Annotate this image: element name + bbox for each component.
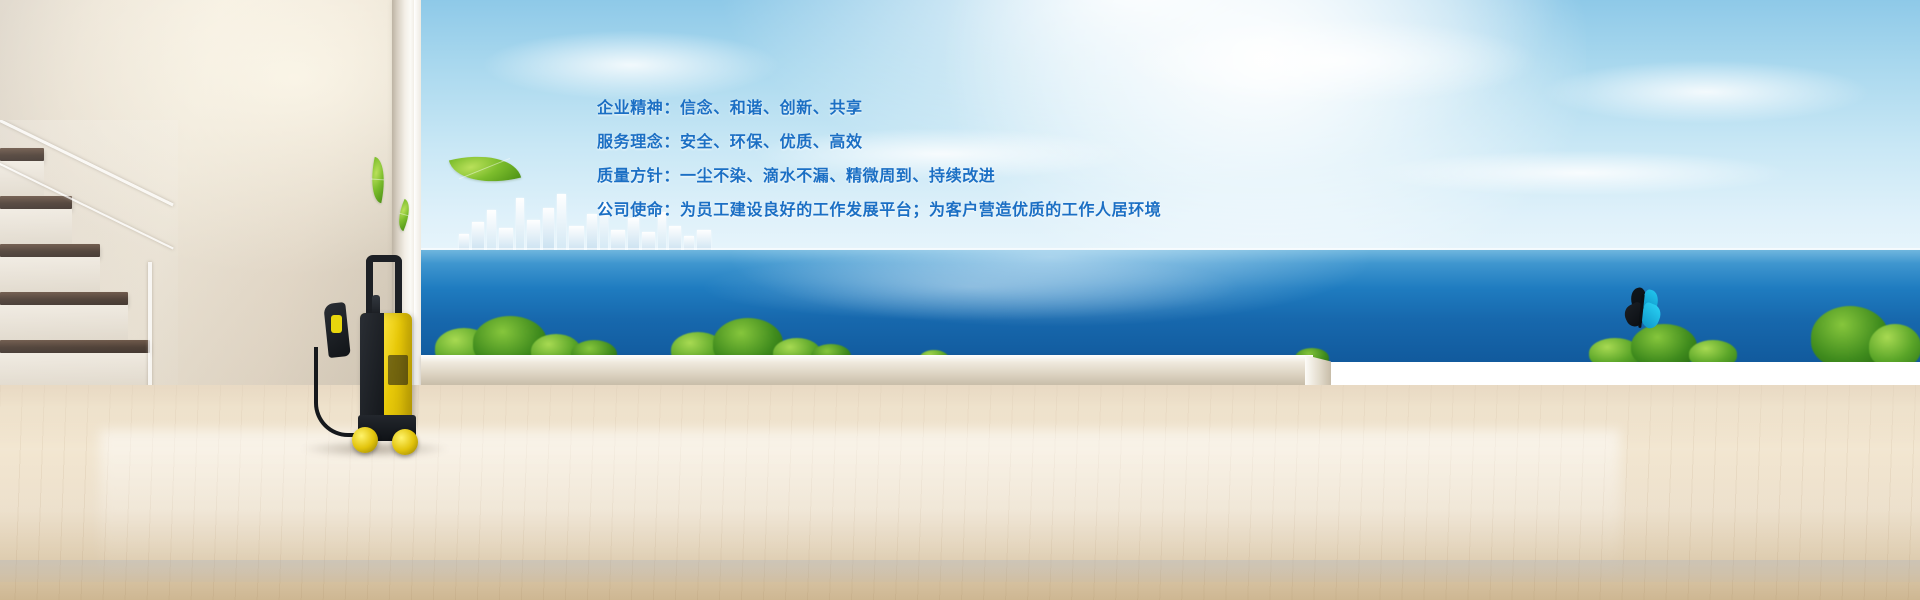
- pressure-washer: [310, 255, 425, 455]
- pressure-washer-body-side: [360, 313, 384, 425]
- pressure-washer-hose: [314, 347, 360, 437]
- pressure-washer-trigger: [331, 315, 342, 333]
- slogan-text-block: 企业精神：信念、和谐、创新、共享 服务理念：安全、环保、优质、高效 质量方针：一…: [597, 92, 1297, 228]
- slogan-line-service-philosophy: 服务理念：安全、环保、优质、高效: [597, 126, 1297, 160]
- cloud: [1541, 60, 1871, 124]
- pressure-washer-wheel-left: [352, 427, 378, 453]
- cloud: [1371, 150, 1791, 196]
- stair-glass-panel: [0, 120, 178, 420]
- slogan-line-quality-policy: 质量方针：一尘不染、滴水不漏、精微周到、持续改进: [597, 160, 1297, 194]
- shoreline-greenery: [421, 298, 1920, 362]
- pressure-washer-wheel-right: [392, 429, 418, 455]
- baseboard-back: [421, 355, 1313, 389]
- floor-foreground-band: [0, 560, 1920, 582]
- slogan-line-company-mission: 公司使命：为员工建设良好的工作发展平台；为客户营造优质的工作人居环境: [597, 194, 1297, 228]
- butterfly: [1621, 288, 1661, 334]
- pressure-washer-label: [388, 355, 408, 385]
- staircase: [0, 120, 178, 420]
- cloud: [481, 30, 781, 100]
- slogan-line-corporate-spirit: 企业精神：信念、和谐、创新、共享: [597, 92, 1297, 126]
- promotional-banner: 企业精神：信念、和谐、创新、共享 服务理念：安全、环保、优质、高效 质量方针：一…: [0, 0, 1920, 600]
